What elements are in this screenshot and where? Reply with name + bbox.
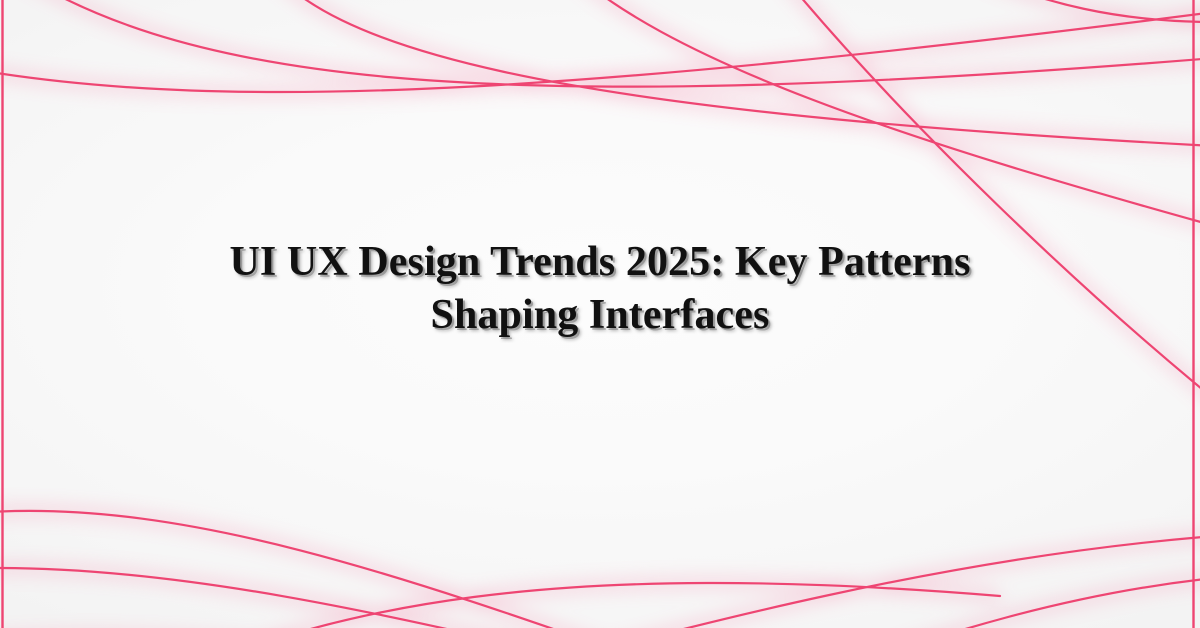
top-arc-5 (770, 0, 1200, 420)
top-arc-2 (0, 12, 1200, 92)
top-arc-4-glow (560, 0, 1200, 226)
bottom-arc-5 (760, 578, 1200, 628)
top-arc-3 (262, 0, 1200, 146)
bottom-arc-5-glow (760, 578, 1200, 628)
bottom-arc-3-glow (120, 583, 1000, 628)
page-title: UI UX Design Trends 2025: Key Patterns S… (90, 236, 1110, 341)
banner-card: UI UX Design Trends 2025: Key Patterns S… (0, 0, 1200, 628)
top-arc-3-glow (262, 0, 1200, 146)
top-arc-6 (944, 0, 1200, 22)
top-arc-6-glow (944, 0, 1200, 22)
bottom-arc-4-glow (420, 536, 1200, 628)
top-arc-1-glow (0, 0, 1200, 87)
top-arc-1 (0, 0, 1200, 87)
top-arc-4 (560, 0, 1200, 226)
top-arc-5-glow (770, 0, 1200, 420)
bottom-arc-1 (0, 511, 700, 628)
bottom-arc-2-glow (0, 568, 760, 628)
bottom-arc-2 (0, 568, 760, 628)
title-block: UI UX Design Trends 2025: Key Patterns S… (0, 236, 1200, 341)
top-arc-2-glow (0, 12, 1200, 92)
bottom-arc-3 (120, 583, 1000, 628)
bottom-arc-4 (420, 536, 1200, 628)
bottom-arc-1-glow (0, 511, 700, 628)
